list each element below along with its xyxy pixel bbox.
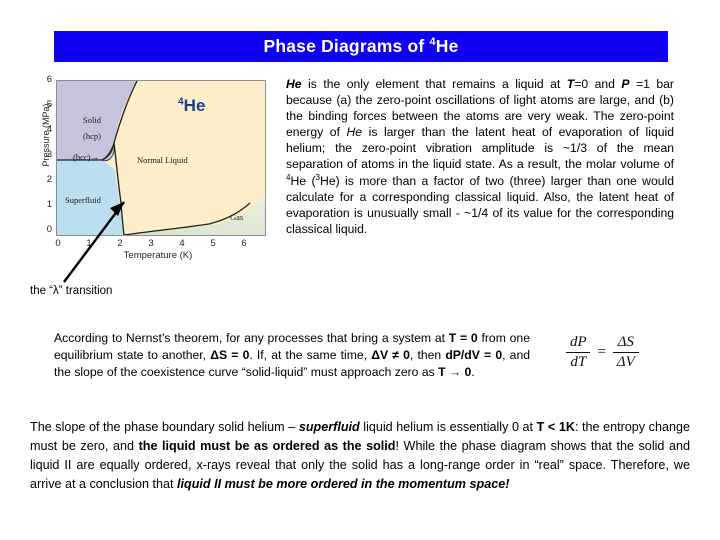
slide-title-bar: Phase Diagrams of 4He: [54, 31, 668, 62]
formula-rhs-denominator: ΔV: [613, 352, 639, 371]
lambda-transition-arrow: [60, 198, 130, 286]
formula-rhs-numerator: ΔS: [614, 334, 638, 352]
nernst-seg-dV: ΔV ≠ 0: [371, 348, 410, 362]
nernst-seg-07: , then: [410, 348, 445, 362]
nernst-seg-T0: T = 0: [449, 331, 478, 345]
nernst-seg-05: . If, at the same time,: [249, 348, 371, 362]
formula-equals-sign: =: [597, 344, 607, 361]
intro-seg-10: He (: [290, 174, 315, 188]
nernst-seg-Tto0: T → 0: [438, 365, 471, 379]
intro-paragraph: He is the only element that remains a li…: [286, 76, 674, 237]
intro-seg-04: =0 and: [574, 77, 621, 91]
y-tick-3: 3: [30, 149, 52, 160]
bottom-seg-ordered: the liquid must be as ordered as the sol…: [139, 439, 396, 453]
title-main-text: Phase Diagrams of: [263, 36, 429, 56]
formula-lhs-numerator: dP: [566, 334, 591, 352]
region-label-solid: Solid: [83, 115, 101, 125]
x-tick-3: 3: [143, 238, 159, 249]
x-tick-6: 6: [236, 238, 252, 249]
x-tick-5: 5: [205, 238, 221, 249]
nernst-seg-11: .: [471, 365, 474, 379]
clausius-clapeyron-formula: dP dT = ΔS ΔV: [566, 334, 639, 371]
y-tick-6: 6: [30, 74, 52, 85]
formula-rhs-fraction: ΔS ΔV: [613, 334, 639, 371]
formula-lhs-fraction: dP dT: [566, 334, 591, 371]
conclusion-paragraph: The slope of the phase boundary solid he…: [30, 418, 690, 494]
y-tick-2: 2: [30, 174, 52, 185]
y-tick-0: 0: [30, 224, 52, 235]
region-label-hcp: (hcp): [83, 131, 101, 141]
bottom-seg-superfluid: superfluid: [299, 420, 360, 434]
x-tick-4: 4: [174, 238, 190, 249]
intro-seg-he: He: [286, 77, 302, 91]
region-label-bcc: (bcc)→: [73, 152, 99, 162]
y-tick-4: 4: [30, 124, 52, 135]
nernst-seg-dS0: ΔS = 0: [210, 348, 249, 362]
formula-lhs-denominator: dT: [566, 352, 590, 371]
bottom-seg-momentum: liquid II must be more ordered in the mo…: [177, 477, 509, 491]
helium-4-badge: 4He: [178, 96, 205, 116]
bottom-seg-03: liquid helium is essentially 0 at: [360, 420, 537, 434]
intro-seg-12: He) is more than a factor of two (three)…: [286, 174, 674, 236]
y-tick-5: 5: [30, 99, 52, 110]
intro-seg-02: is the only element that remains a liqui…: [302, 77, 567, 91]
region-label-normal-liquid: Normal Liquid: [137, 155, 188, 165]
lambda-transition-caption: the “λ” transition: [30, 285, 112, 297]
region-label-gas: Gas: [230, 212, 243, 222]
page-title: Phase Diagrams of 4He: [263, 36, 458, 57]
helium-4-badge-text: He: [184, 96, 206, 115]
bottom-seg-T1K: T < 1K: [537, 420, 575, 434]
bottom-seg-01: The slope of the phase boundary solid he…: [30, 420, 299, 434]
y-axis-ticks: 6 5 4 3 2 1 0: [26, 78, 52, 234]
y-tick-1: 1: [30, 199, 52, 210]
intro-seg-he2: He: [347, 125, 363, 139]
intro-seg-P: P: [621, 77, 629, 91]
title-tail-text: He: [436, 36, 459, 56]
nernst-seg-01: According to Nernst’s theorem, for any p…: [54, 331, 449, 345]
nernst-paragraph: According to Nernst’s theorem, for any p…: [54, 330, 530, 382]
nernst-seg-dPdV: dP/dV = 0: [445, 348, 502, 362]
